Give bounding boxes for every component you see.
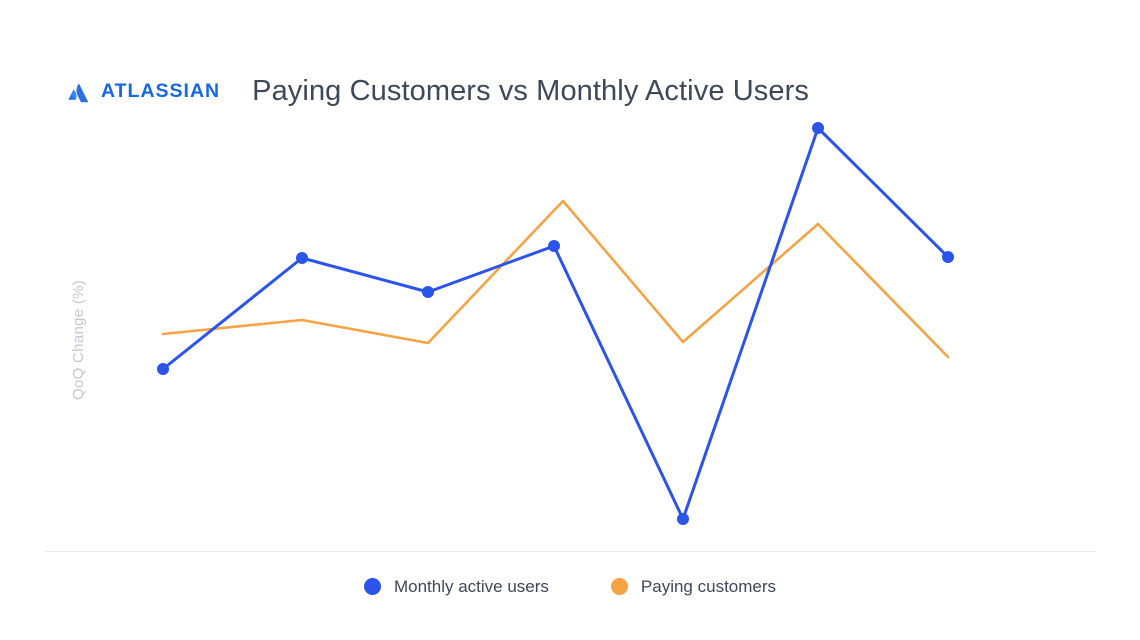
legend-item-monthly-active-users[interactable]: Monthly active users	[364, 578, 549, 595]
monthly-active-users-line	[163, 128, 948, 519]
y-axis-label: QoQ Change (%)	[70, 200, 87, 400]
monthly-active-users-markers	[157, 122, 954, 525]
series-monthly-active-users	[157, 122, 954, 525]
atlassian-wordmark: ATLASSIAN	[101, 82, 220, 102]
legend-item-label: Monthly active users	[394, 578, 549, 595]
data-point	[296, 252, 308, 264]
circle-icon	[364, 578, 381, 595]
paying-customers-line	[163, 201, 948, 357]
chart-legend: Monthly active users Paying customers	[0, 578, 1140, 595]
chart-header: ATLASSIAN Paying Customers vs Monthly Ac…	[66, 58, 809, 126]
circle-icon	[611, 578, 628, 595]
legend-item-label: Paying customers	[641, 578, 776, 595]
data-point	[157, 363, 169, 375]
page-title: Paying Customers vs Monthly Active Users	[252, 77, 809, 106]
data-point	[548, 240, 560, 252]
data-point	[942, 251, 954, 263]
chart-card: ATLASSIAN Paying Customers vs Monthly Ac…	[0, 0, 1140, 640]
atlassian-logo-icon	[66, 79, 92, 105]
series-paying-customers	[163, 201, 948, 357]
atlassian-logo: ATLASSIAN	[66, 79, 220, 105]
data-point	[422, 286, 434, 298]
legend-divider	[44, 551, 1096, 552]
data-point	[677, 513, 689, 525]
legend-item-paying-customers[interactable]: Paying customers	[611, 578, 776, 595]
data-point	[812, 122, 824, 134]
